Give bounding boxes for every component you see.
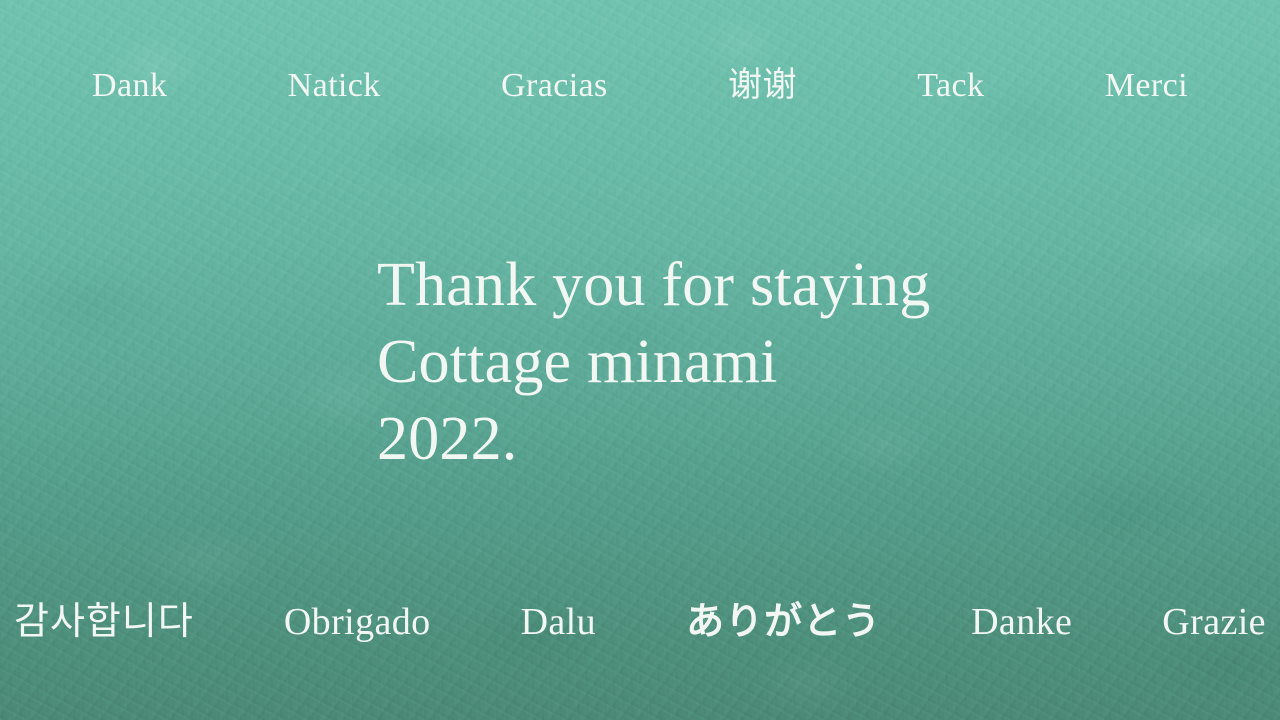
page-title: Thank you for staying Cottage minami 202… (377, 247, 930, 478)
headline-line-2: Cottage minami (377, 324, 930, 401)
thank-you-word: Tack (917, 69, 984, 103)
thank-you-slide: Dank Natick Gracias 谢谢 Tack Merci Thank … (0, 0, 1280, 720)
thank-you-word: Grazie (1162, 603, 1266, 641)
thank-you-word: Dank (92, 69, 167, 103)
headline-line-3: 2022. (377, 401, 930, 478)
thank-you-word: Gracias (501, 69, 608, 103)
thank-you-word: 谢谢 (728, 68, 797, 102)
thank-you-word: Dalu (521, 603, 596, 641)
thank-you-word: 감사합니다 (14, 602, 194, 640)
bottom-thank-you-row: 감사합니다 Obrigado Dalu ありがとう Danke Grazie (0, 602, 1280, 641)
top-thank-you-row: Dank Natick Gracias 谢谢 Tack Merci (0, 68, 1280, 103)
thank-you-word: Obrigado (284, 603, 431, 641)
thank-you-word: Merci (1105, 69, 1188, 103)
thank-you-word: ありがとう (686, 602, 881, 640)
headline-line-1: Thank you for staying (377, 247, 930, 324)
thank-you-word: Natick (288, 69, 381, 103)
thank-you-word: Danke (971, 603, 1072, 641)
